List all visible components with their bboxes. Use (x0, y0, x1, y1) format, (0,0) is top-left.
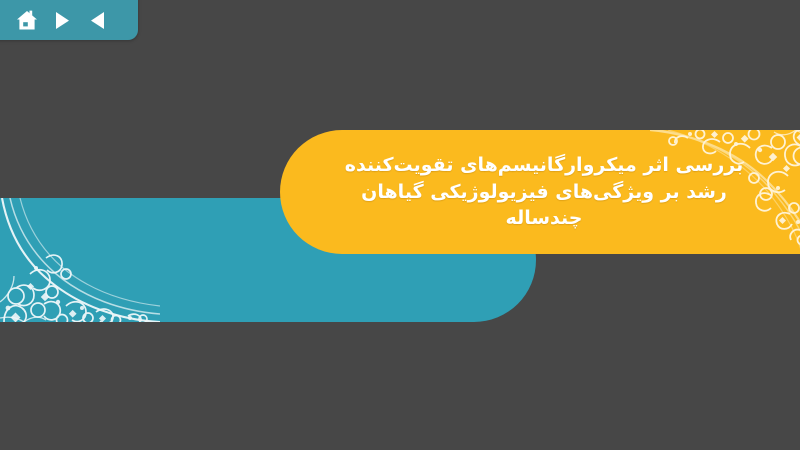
presentation-slide: بررسی اثر میکروارگانیسم‌های تقویت‌کننده … (0, 0, 800, 450)
teal-arabesque-ornament-icon (0, 198, 160, 322)
next-slide-button[interactable] (51, 8, 73, 32)
triangle-left-icon (89, 11, 106, 30)
slide-title-panel: بررسی اثر میکروارگانیسم‌های تقویت‌کننده … (280, 130, 800, 254)
slide-title-line-2: رشد بر ویژگی‌های فیزیولوژیکی گیاهان (361, 179, 727, 206)
slide-title-line-3: چندساله (506, 205, 583, 232)
slide-title: بررسی اثر میکروارگانیسم‌های تقویت‌کننده … (280, 130, 800, 254)
home-icon (16, 10, 38, 31)
slide-navigation-bar (0, 0, 138, 40)
previous-slide-button[interactable] (86, 8, 108, 32)
slide-title-line-1: بررسی اثر میکروارگانیسم‌های تقویت‌کننده (345, 152, 744, 179)
triangle-right-icon (54, 11, 71, 30)
home-button[interactable] (16, 8, 38, 32)
